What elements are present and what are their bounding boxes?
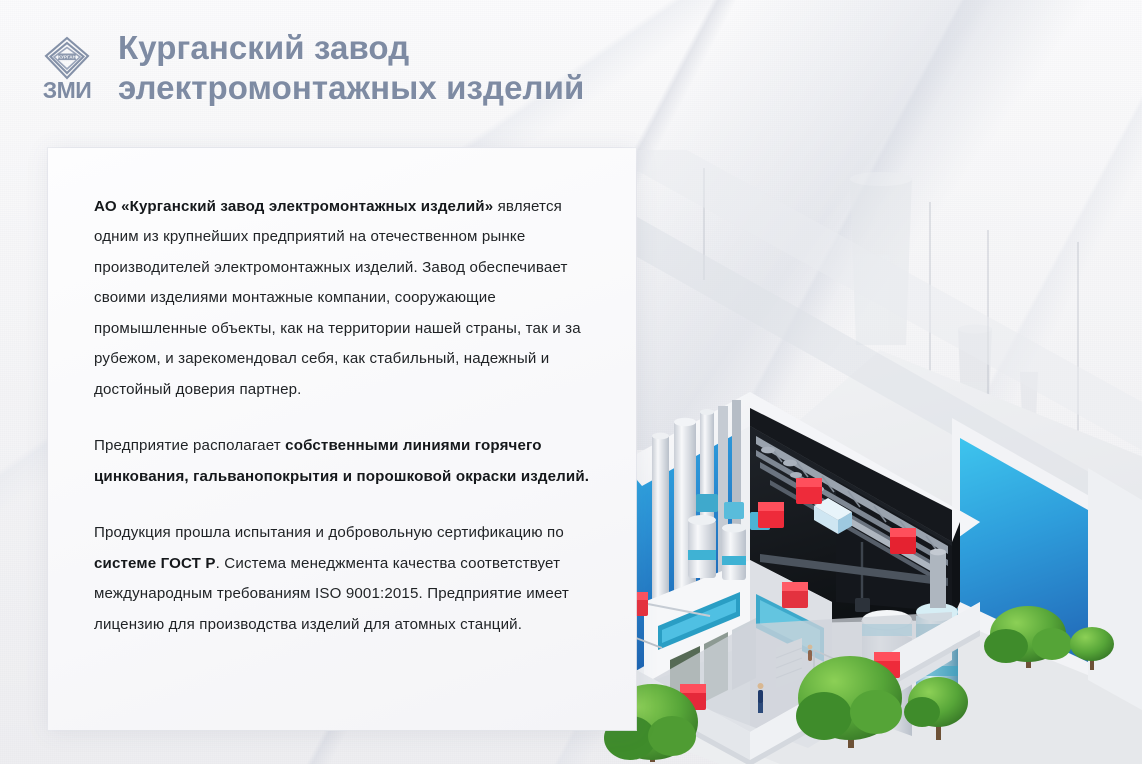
marker-cube	[890, 528, 916, 554]
page-header: КУРГАН ЗМИ Курганский завод электромонта…	[38, 28, 584, 109]
company-name-bold: АО «Курганский завод электромонтажных из…	[94, 198, 493, 215]
cert-pre-text: Продукция прошла испытания и добровольну…	[94, 524, 564, 541]
page-title: Курганский завод электромонтажных издели…	[118, 28, 584, 109]
paragraph-intro: АО «Курганский завод электромонтажных из…	[94, 192, 590, 405]
svg-text:ЗМИ: ЗМИ	[43, 77, 92, 103]
worker-figure-icon-2	[808, 645, 813, 661]
marker-cube	[782, 582, 808, 608]
paragraph-certification: Продукция прошла испытания и добровольну…	[94, 518, 590, 640]
isometric-factory-cutaway-illustration	[600, 150, 1142, 764]
zmi-diamond-logo-icon: КУРГАН ЗМИ	[38, 34, 96, 104]
lines-pre-text: Предприятие располагает	[94, 437, 285, 454]
worker-figure-icon	[758, 683, 764, 713]
marker-cube	[796, 478, 822, 504]
content-card: АО «Курганский завод электромонтажных из…	[48, 148, 636, 730]
cert-strong-text: системе ГОСТ Р	[94, 555, 216, 572]
page-title-line-2: электромонтажных изделий	[118, 68, 584, 108]
svg-text:КУРГАН: КУРГАН	[58, 55, 76, 60]
paragraph-production-lines: Предприятие располагает собственными лин…	[94, 431, 590, 492]
marker-cube	[758, 502, 784, 528]
intro-body-text: является одним из крупнейших предприятий…	[94, 198, 581, 398]
page-title-line-1: Курганский завод	[118, 29, 409, 66]
